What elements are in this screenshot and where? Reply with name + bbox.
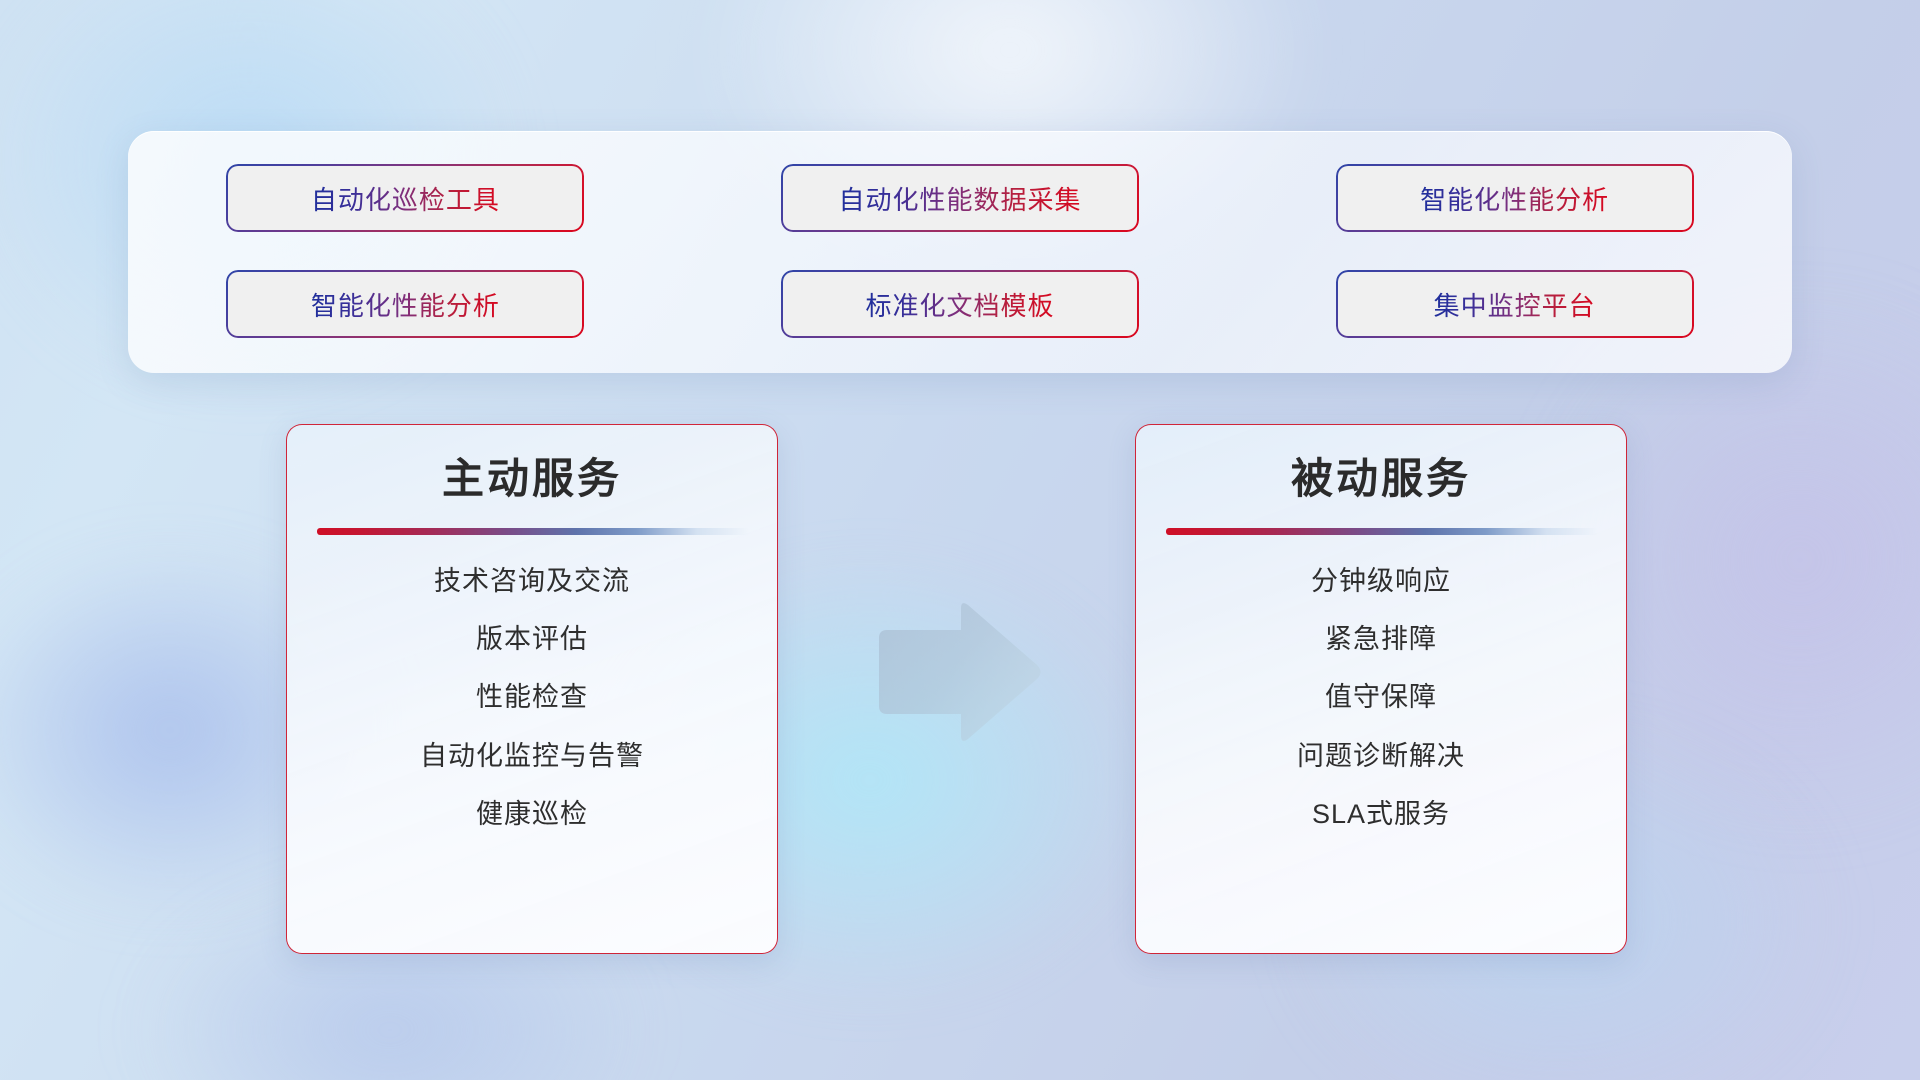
capability-tag-label: 智能化性能分析 [1420, 180, 1609, 217]
service-list-item: 技术咨询及交流 [434, 565, 630, 597]
service-list-item: 健康巡检 [476, 798, 588, 830]
service-list-item: 自动化监控与告警 [420, 740, 644, 772]
service-list-item: SLA式服务 [1312, 798, 1450, 830]
capability-tag-4[interactable]: 智能化性能分析 [226, 270, 584, 338]
service-item-list: 分钟级响应 紧急排障 值守保障 问题诊断解决 SLA式服务 [1166, 565, 1596, 831]
title-gradient-divider [1166, 528, 1598, 535]
service-list-item: 性能检查 [476, 681, 588, 713]
capability-tag-label: 自动化性能数据采集 [838, 180, 1081, 217]
capability-tag-label: 自动化巡检工具 [311, 180, 500, 217]
capability-tag-label: 标准化文档模板 [865, 286, 1054, 323]
capability-tag-3[interactable]: 智能化性能分析 [1336, 164, 1694, 232]
title-gradient-divider [317, 528, 749, 535]
arrow-right-icon [875, 598, 1045, 748]
service-card-title: 被动服务 [1166, 453, 1596, 506]
capability-tag-label: 智能化性能分析 [311, 286, 500, 323]
service-list-item: 值守保障 [1325, 681, 1437, 713]
capability-tag-1[interactable]: 自动化巡检工具 [226, 164, 584, 232]
capability-tag-panel: 自动化巡检工具 自动化性能数据采集 智能化性能分析 智能化性能分析 标准化文档模… [128, 131, 1792, 373]
service-list-item: 紧急排障 [1325, 623, 1437, 655]
service-list-item: 问题诊断解决 [1297, 740, 1465, 772]
capability-tag-6[interactable]: 集中监控平台 [1336, 270, 1694, 338]
service-list-item: 分钟级响应 [1311, 565, 1451, 597]
service-item-list: 技术咨询及交流 版本评估 性能检查 自动化监控与告警 健康巡检 [317, 565, 747, 831]
slide-canvas: 自动化巡检工具 自动化性能数据采集 智能化性能分析 智能化性能分析 标准化文档模… [0, 0, 1920, 1080]
service-card-proactive: 主动服务 技术咨询及交流 版本评估 性能检查 自动化监控与告警 健康巡检 [286, 424, 778, 954]
service-card-title: 主动服务 [317, 453, 747, 506]
capability-tag-label: 集中监控平台 [1434, 286, 1596, 323]
service-list-item: 版本评估 [476, 623, 588, 655]
service-card-reactive: 被动服务 分钟级响应 紧急排障 值守保障 问题诊断解决 SLA式服务 [1135, 424, 1627, 954]
capability-tag-5[interactable]: 标准化文档模板 [781, 270, 1139, 338]
capability-tag-2[interactable]: 自动化性能数据采集 [781, 164, 1139, 232]
